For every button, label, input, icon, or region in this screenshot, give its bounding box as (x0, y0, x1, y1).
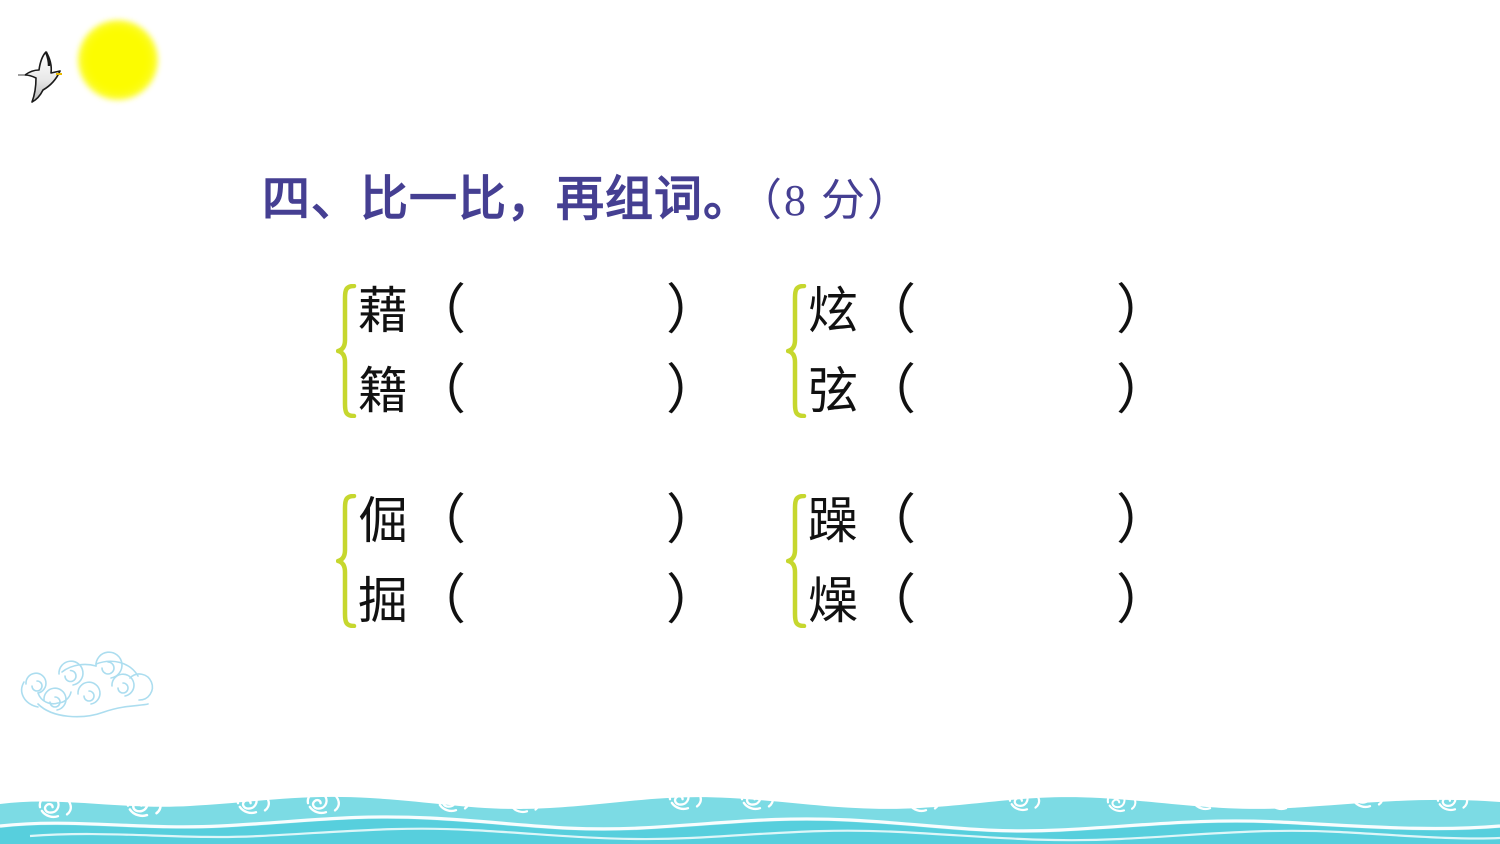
answer-blank[interactable] (916, 276, 1116, 328)
paren-close: ） (1116, 283, 1170, 337)
word-line: 倔 （ ） (358, 486, 786, 556)
paren-close: ） (666, 493, 720, 547)
curly-brace-icon (786, 486, 808, 636)
target-character: 弦 (808, 366, 862, 416)
paren-close: ） (666, 363, 720, 417)
target-character: 炫 (808, 286, 862, 336)
target-character: 籍 (358, 366, 412, 416)
section-heading-main: 四、比一比，再组词。 (262, 173, 752, 226)
seagull-icon (16, 44, 74, 106)
paren-open: （ (412, 573, 466, 627)
word-pair: 炫 （ ） 弦 （ ） (786, 276, 1236, 426)
exercise-row: 藉 （ ） 籍 （ ） (336, 276, 1236, 426)
paren-open: （ (862, 493, 916, 547)
target-character: 躁 (808, 496, 862, 546)
paren-close: ） (666, 573, 720, 627)
word-line: 藉 （ ） (358, 276, 786, 346)
target-character: 倔 (358, 496, 412, 546)
answer-blank[interactable] (916, 566, 1116, 618)
word-pair-lines: 藉 （ ） 籍 （ ） (358, 276, 786, 426)
curly-brace-icon (336, 276, 358, 426)
paren-close: ） (1116, 493, 1170, 547)
paren-open: （ (862, 283, 916, 337)
paren-open: （ (412, 493, 466, 547)
answer-blank[interactable] (466, 566, 666, 618)
word-pair: 躁 （ ） 燥 （ ） (786, 486, 1236, 636)
paren-close: ） (666, 283, 720, 337)
section-heading-score: （8 分） (752, 176, 913, 225)
exercise-grid: 藉 （ ） 籍 （ ） (336, 276, 1236, 636)
word-pair: 藉 （ ） 籍 （ ） (336, 276, 786, 426)
paren-open: （ (412, 283, 466, 337)
word-pair-lines: 倔 （ ） 掘 （ ） (358, 486, 786, 636)
answer-blank[interactable] (466, 486, 666, 538)
paren-open: （ (862, 573, 916, 627)
slide-canvas: 四、比一比，再组词。（8 分） 藉 （ ） (0, 0, 1500, 844)
exercise-row: 倔 （ ） 掘 （ ） (336, 486, 1236, 636)
target-character: 掘 (358, 576, 412, 626)
word-line: 炫 （ ） (808, 276, 1236, 346)
paren-open: （ (412, 363, 466, 417)
paren-close: ） (1116, 363, 1170, 417)
answer-blank[interactable] (916, 356, 1116, 408)
section-heading: 四、比一比，再组词。（8 分） (262, 176, 913, 224)
answer-blank[interactable] (466, 356, 666, 408)
wave-border (0, 770, 1500, 844)
word-line: 燥 （ ） (808, 566, 1236, 636)
word-pair: 倔 （ ） 掘 （ ） (336, 486, 786, 636)
answer-blank[interactable] (916, 486, 1116, 538)
sun-icon (78, 20, 158, 100)
target-character: 燥 (808, 576, 862, 626)
curly-brace-icon (336, 486, 358, 636)
paren-open: （ (862, 363, 916, 417)
curly-brace-icon (786, 276, 808, 426)
word-line: 籍 （ ） (358, 356, 786, 426)
word-pair-lines: 躁 （ ） 燥 （ ） (808, 486, 1236, 636)
cloud-icon (4, 638, 184, 728)
word-line: 弦 （ ） (808, 356, 1236, 426)
answer-blank[interactable] (466, 276, 666, 328)
target-character: 藉 (358, 286, 412, 336)
word-line: 躁 （ ） (808, 486, 1236, 556)
word-pair-lines: 炫 （ ） 弦 （ ） (808, 276, 1236, 426)
paren-close: ） (1116, 573, 1170, 627)
word-line: 掘 （ ） (358, 566, 786, 636)
